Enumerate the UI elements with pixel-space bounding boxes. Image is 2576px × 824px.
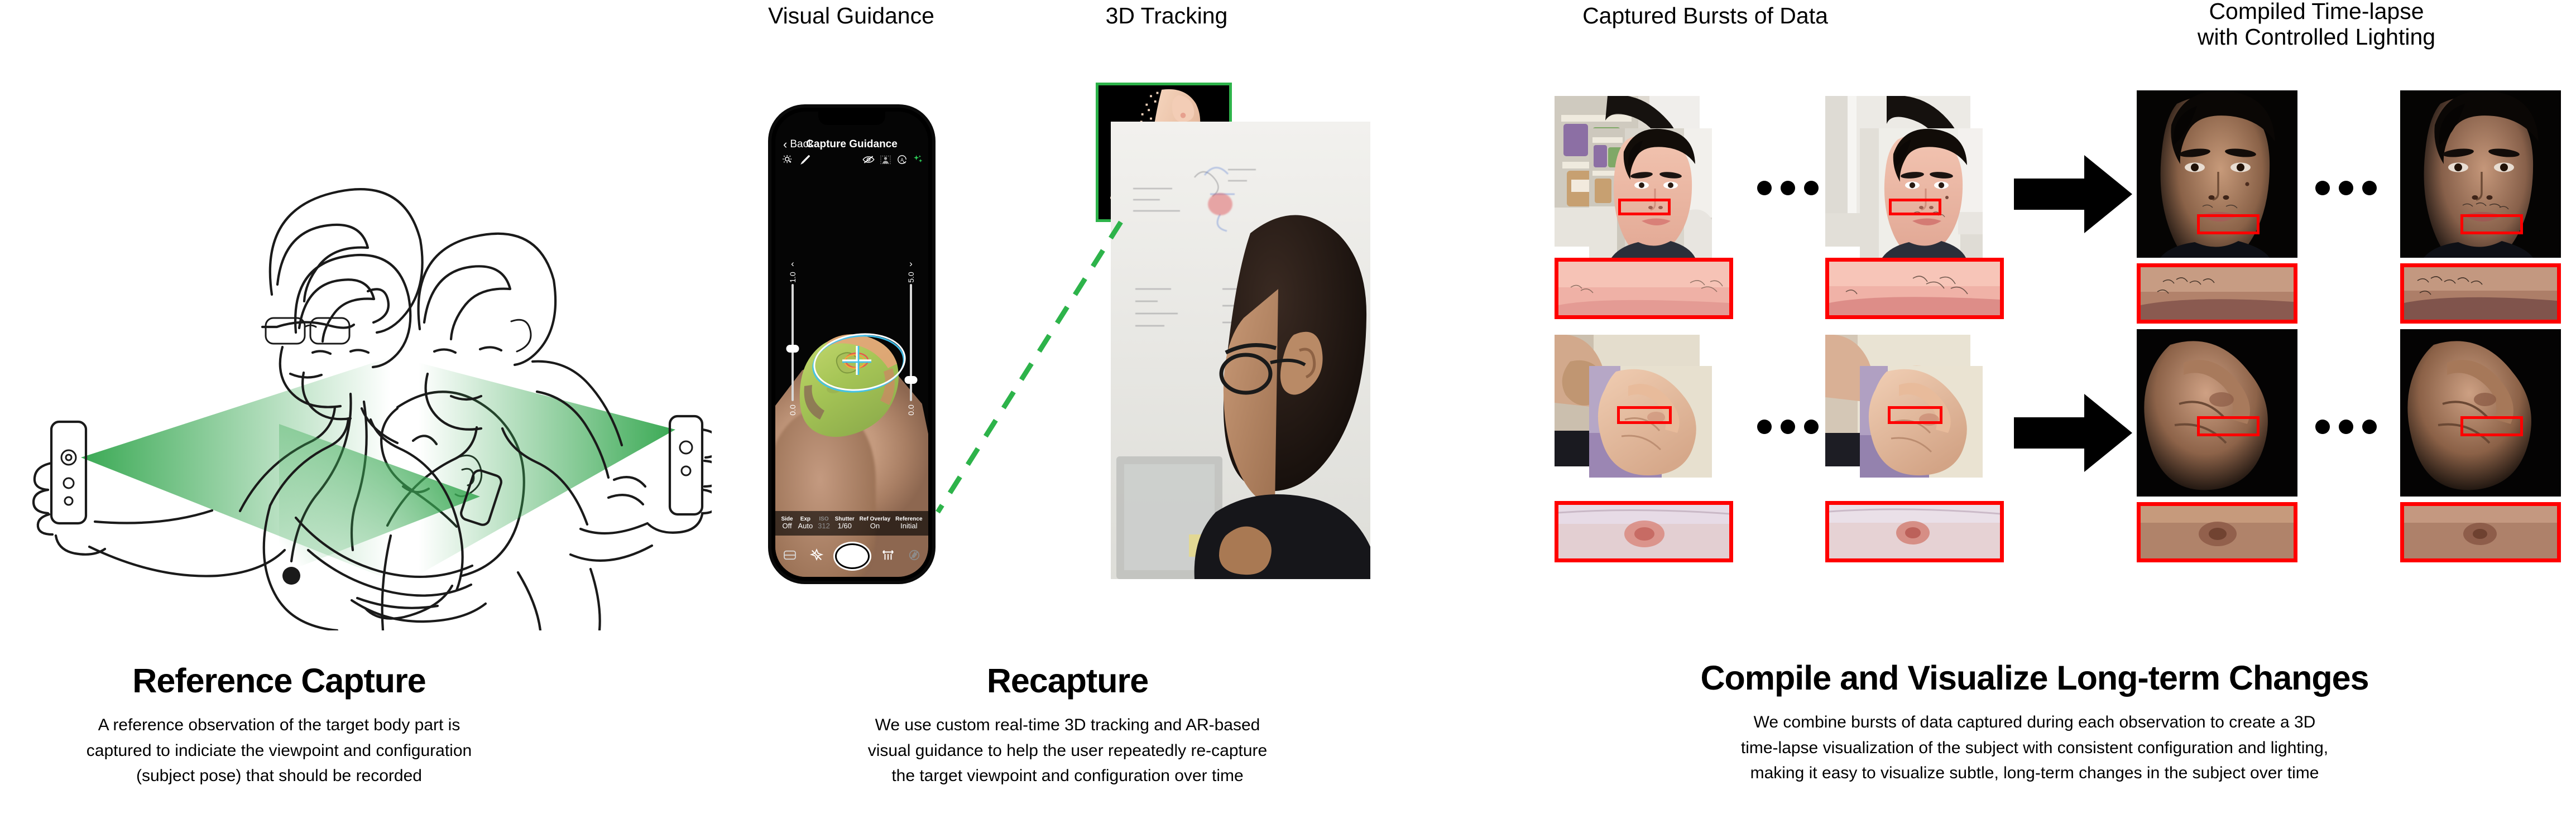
reference-capture-illustration: .ln { fill:none; stroke:#1a1a1a; stroke-… <box>0 17 712 630</box>
caption-line: We combine bursts of data captured durin… <box>1518 710 2551 735</box>
roi-rect-hand-2 <box>1888 406 1942 424</box>
zoom-crop-timelapse-face-2 <box>2400 263 2561 324</box>
panel-title-reference-capture: Reference Capture <box>14 661 544 700</box>
zoom-crop-timelapse-hand-1 <box>2137 502 2297 562</box>
auto-flash-icon[interactable]: A <box>896 154 908 168</box>
label-captured-bursts: Captured Bursts of Data <box>1527 3 1884 29</box>
magic-star-icon[interactable] <box>810 548 823 565</box>
phone-notch <box>818 112 885 125</box>
setting-shutter-value: 1/60 <box>835 522 855 531</box>
panel-title-recapture: Recapture <box>742 661 1393 700</box>
panel-caption-recapture: We use custom real-time 3D tracking and … <box>742 712 1393 789</box>
caption-reference-capture: Reference Capture A reference observatio… <box>14 661 544 789</box>
phone-device: ‹ Back Capture Guidance <box>771 108 932 581</box>
roi-rect-timelapse-hand-1 <box>2197 416 2260 436</box>
eye-slash-icon[interactable] <box>862 155 875 167</box>
setting-iso[interactable]: ISO 312 <box>818 516 830 531</box>
arrow-face-row <box>2014 155 2132 233</box>
zoom-crop-timelapse-hand-2 <box>2400 502 2561 562</box>
setting-reference[interactable]: Reference Initial <box>895 516 922 531</box>
app-toolbar: A <box>775 154 928 173</box>
zoom-crop-face-1 <box>1555 258 1733 319</box>
caption-line: time-lapse visualization of the subject … <box>1518 735 2551 761</box>
capture-settings-bar: Side Off Exp Auto ISO 312 Shutter 1/60 <box>775 511 928 536</box>
roi-rect-face-2 <box>1889 199 1941 215</box>
opacity-slider-track[interactable] <box>791 284 794 401</box>
timelapse-hand-1-image <box>2137 329 2297 497</box>
burst-face-1-front <box>1589 128 1712 258</box>
opacity-slider-knob[interactable] <box>786 345 799 353</box>
caption-recapture: Recapture We use custom real-time 3D tra… <box>742 661 1393 789</box>
zoom-crop-hand-2 <box>1825 501 2004 562</box>
svg-text:A: A <box>900 157 904 162</box>
gear-icon[interactable] <box>782 154 793 168</box>
panel-caption-compile-visualize: We combine bursts of data captured durin… <box>1518 710 2551 786</box>
ellipsis-face-row <box>1757 181 1819 195</box>
caption-line: captured to indiciate the viewpoint and … <box>14 738 544 764</box>
levels-icon[interactable] <box>881 549 895 564</box>
panel-title-compile-visualize: Compile and Visualize Long-term Changes <box>1518 658 2551 697</box>
phone-screen[interactable]: ‹ Back Capture Guidance <box>775 112 928 577</box>
setting-exposure-value: Auto <box>798 522 813 531</box>
label-compiled-timelapse-line1: Compiled Time-lapse <box>2065 0 2568 25</box>
sparkles-icon[interactable] <box>913 154 924 168</box>
scale-slider[interactable]: › 5.0 0.0 <box>901 259 920 416</box>
burst-face-2-front <box>1860 128 1983 258</box>
setting-reference-value: Initial <box>895 522 922 531</box>
setting-ref-overlay[interactable]: Ref Overlay On <box>860 516 891 531</box>
caption-line: the target viewpoint and configuration o… <box>742 763 1393 789</box>
ellipsis-hand-row <box>1757 420 1819 434</box>
setting-side[interactable]: Side Off <box>781 516 793 531</box>
scale-slider-track[interactable] <box>910 284 912 401</box>
slider-chevron-right-icon: › <box>901 259 920 268</box>
illustration-self-capture <box>382 234 712 630</box>
camera-viewport[interactable]: ‹ 1.0 0.0 › 5.0 0.0 <box>775 174 928 577</box>
caption-line: visual guidance to help the user repeate… <box>742 738 1393 764</box>
timelapse-hand-2-image <box>2400 329 2561 497</box>
zoom-crop-timelapse-face-1 <box>2137 263 2297 324</box>
roi-rect-timelapse-face-2 <box>2460 214 2523 234</box>
slider-chevron-left-icon: ‹ <box>783 259 802 268</box>
setting-iso-value: 312 <box>818 522 830 531</box>
label-compiled-timelapse: Compiled Time-lapse with Controlled Ligh… <box>2065 0 2568 50</box>
zoom-crop-face-2 <box>1825 258 2004 319</box>
photo-user-recapturing <box>1111 122 1370 579</box>
caption-line: A reference observation of the target bo… <box>14 712 544 738</box>
setting-shutter[interactable]: Shutter 1/60 <box>835 516 855 531</box>
app-nav-bar: ‹ Back Capture Guidance <box>775 137 928 152</box>
person-in-frame-icon[interactable] <box>880 155 891 167</box>
arrow-hand-row <box>2014 394 2132 472</box>
setting-ref-overlay-value: On <box>860 522 891 531</box>
dashed-connector <box>927 212 1128 524</box>
capture-bottom-bar <box>775 536 928 577</box>
ellipsis-timelapse-hand <box>2315 420 2377 434</box>
setting-side-value: Off <box>781 522 793 531</box>
setting-exposure[interactable]: Exp Auto <box>798 516 813 531</box>
caption-compile-visualize: Compile and Visualize Long-term Changes … <box>1518 658 2551 786</box>
ellipsis-timelapse-face <box>2315 181 2377 195</box>
panel-caption-reference-capture: A reference observation of the target bo… <box>14 712 544 789</box>
caption-line: We use custom real-time 3D tracking and … <box>742 712 1393 738</box>
app-title: Capture Guidance <box>775 138 928 151</box>
roi-rect-face-1 <box>1618 199 1671 215</box>
label-3d-tracking: 3D Tracking <box>1055 3 1278 29</box>
scale-slider-knob[interactable] <box>905 376 918 384</box>
opacity-slider-min-label: 0.0 <box>788 401 797 420</box>
scale-slider-min-label: 0.0 <box>906 401 915 420</box>
caption-line: (subject pose) that should be recorded <box>14 763 544 789</box>
alignment-reticle <box>838 341 876 379</box>
opacity-slider[interactable]: ‹ 1.0 0.0 <box>783 259 802 416</box>
paintbrush-icon[interactable] <box>800 154 811 168</box>
label-compiled-timelapse-line2: with Controlled Lighting <box>2065 25 2568 50</box>
no-flash-icon[interactable] <box>908 549 920 564</box>
layers-icon[interactable] <box>783 550 797 563</box>
roi-rect-timelapse-face-1 <box>2197 214 2260 234</box>
label-visual-guidance: Visual Guidance <box>742 3 960 29</box>
roi-rect-hand-1 <box>1617 406 1672 424</box>
zoom-crop-hand-1 <box>1555 501 1733 562</box>
caption-line: making it easy to visualize subtle, long… <box>1518 760 2551 786</box>
figure-root: .ln { fill:none; stroke:#1a1a1a; stroke-… <box>0 0 2576 824</box>
roi-rect-timelapse-hand-2 <box>2460 416 2523 436</box>
shutter-button[interactable] <box>837 545 868 567</box>
